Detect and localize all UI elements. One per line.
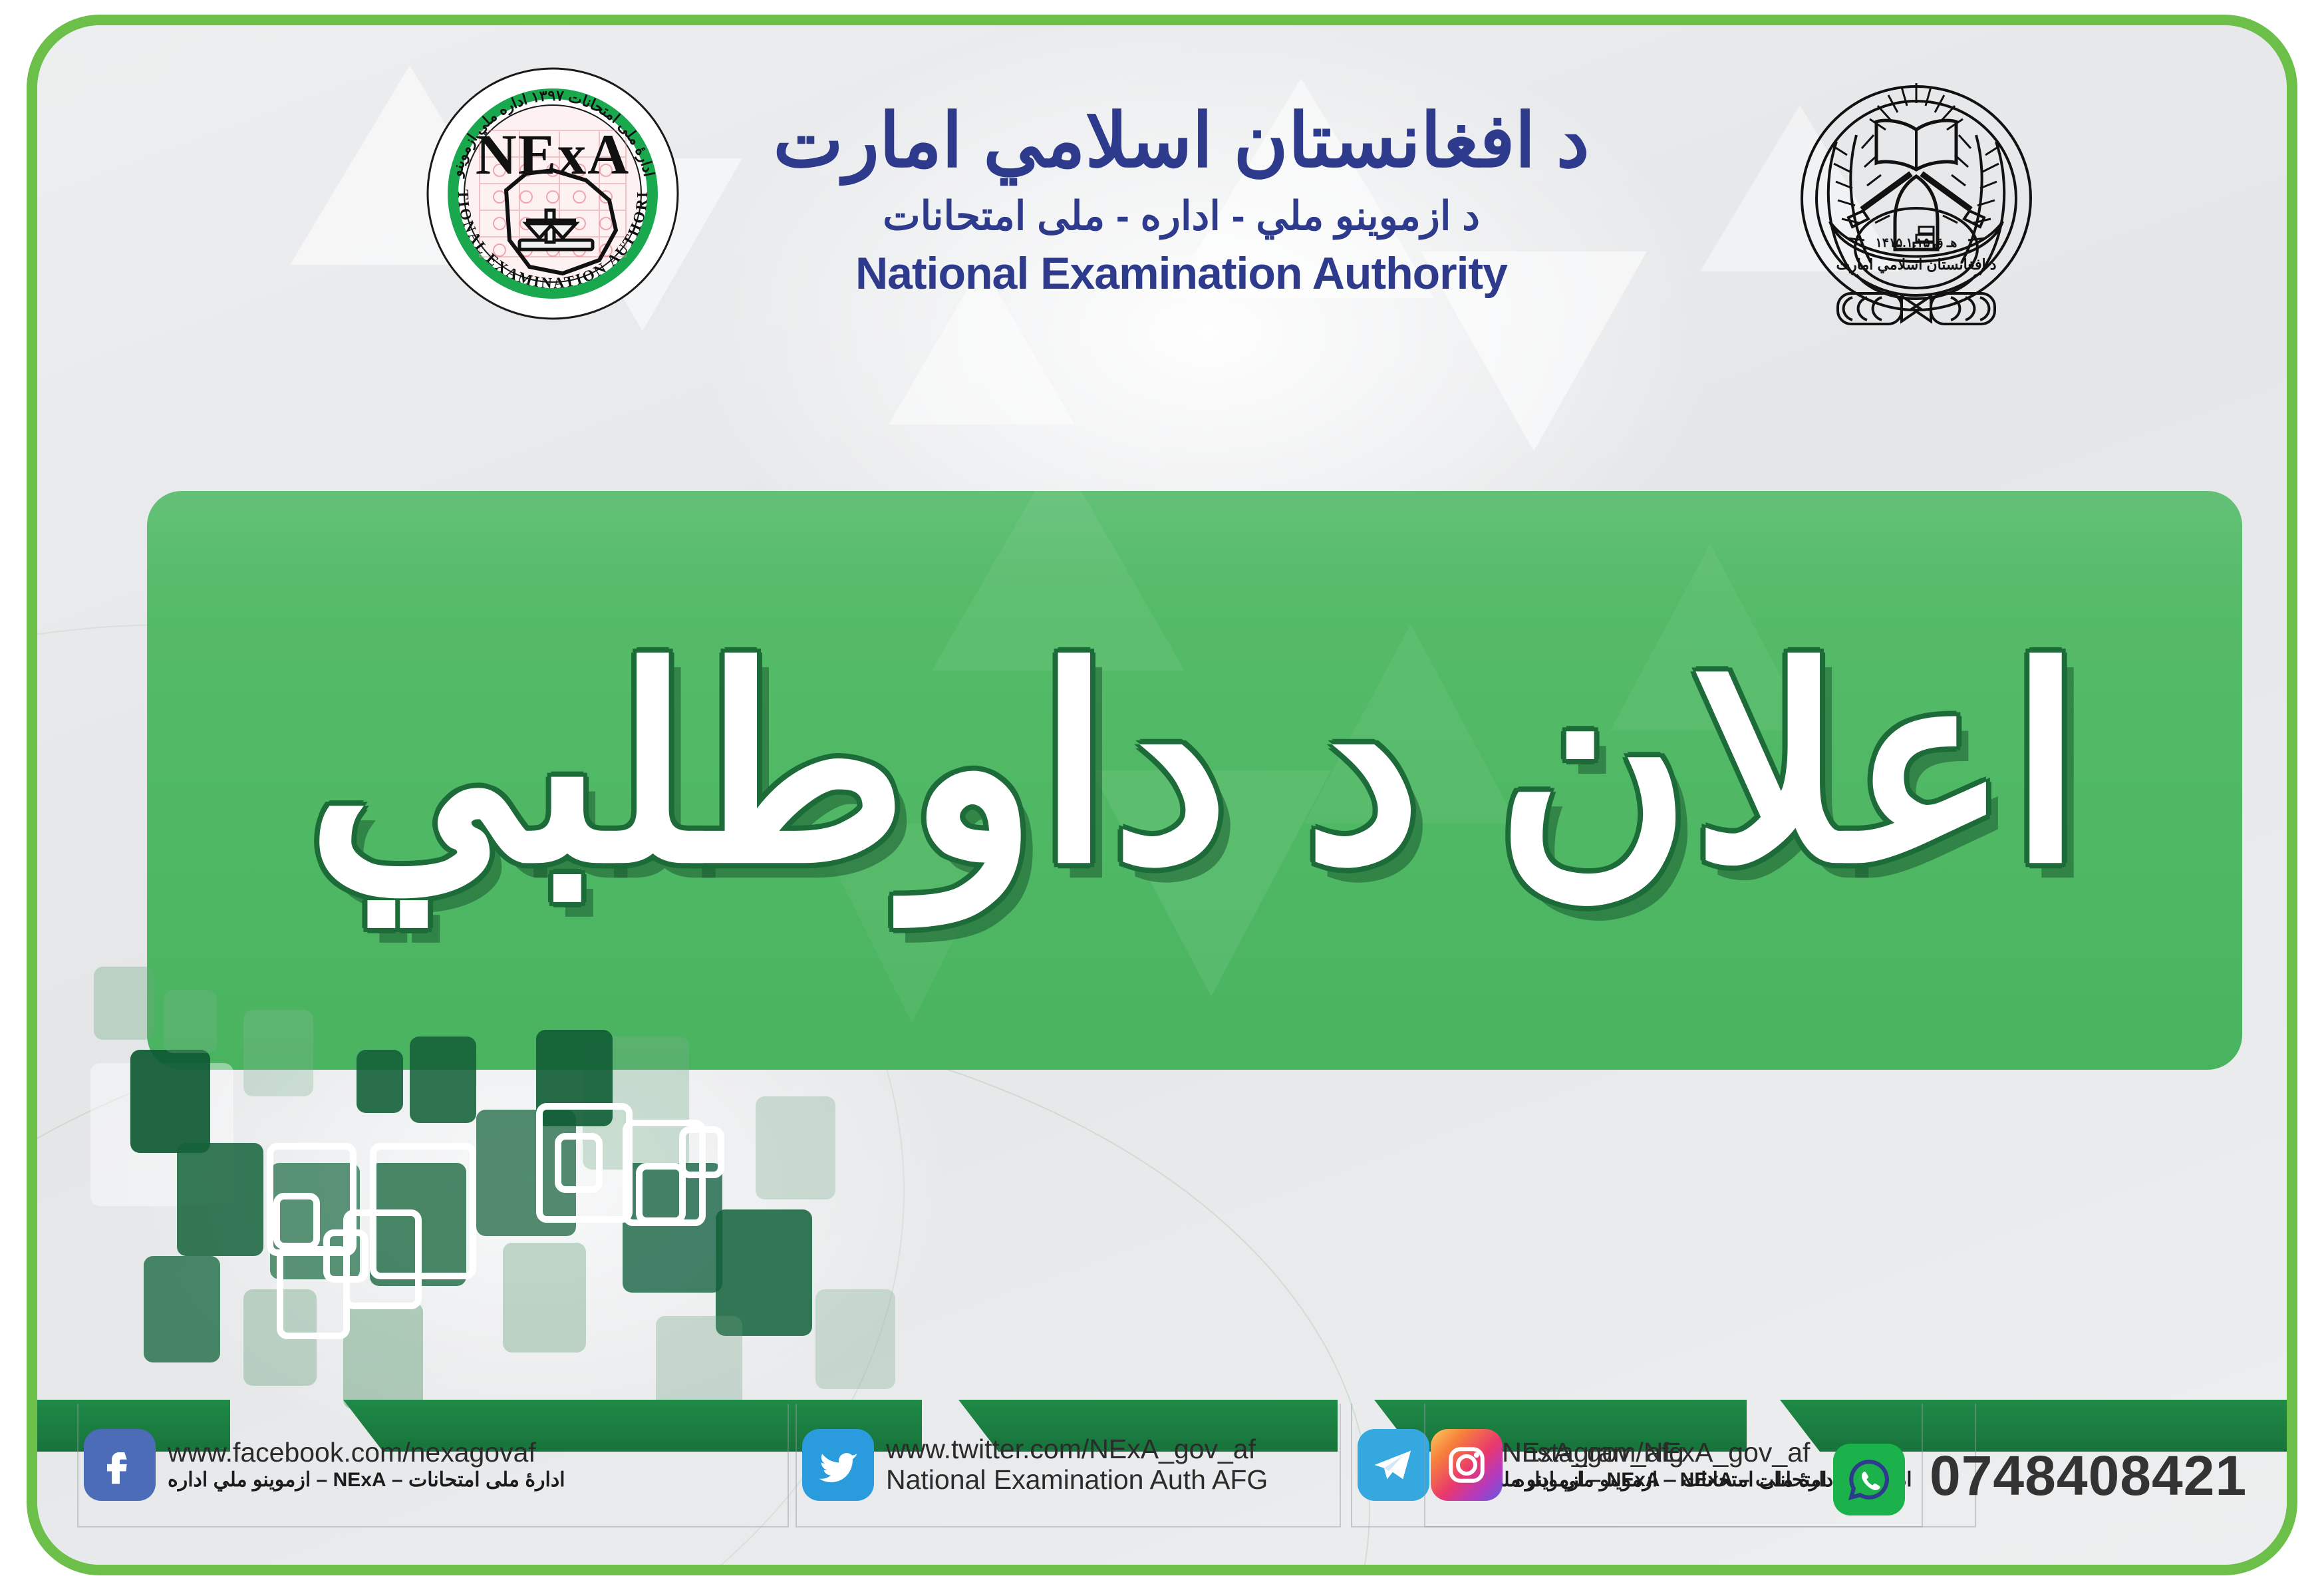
decor-square-outline <box>277 1246 350 1339</box>
decor-square-outline <box>536 1103 633 1223</box>
decor-square-outline <box>555 1133 603 1193</box>
nea-logo: NExA ادارۀ ملی امتحانات ۱۳۹۷ اداره ملي ا… <box>420 57 686 337</box>
decor-square <box>503 1243 586 1352</box>
decor-square <box>756 1096 835 1199</box>
decor-square-outline <box>636 1163 686 1224</box>
instagram-icon <box>1431 1429 1503 1501</box>
decor-square <box>623 1163 722 1293</box>
decor-square <box>716 1209 812 1336</box>
social-url: www.twitter.com/NExA_gov_af <box>886 1434 1268 1465</box>
poster-header: NExA ادارۀ ملی امتحانات ۱۳۹۷ اداره ملي ا… <box>37 25 2287 385</box>
decor-square-outline <box>267 1143 357 1256</box>
poster-footer: www.facebook.com/nexagovaf ادارۀ ملی امت… <box>37 1365 2287 1565</box>
announcement-banner: اعلان د داوطلبي <box>147 491 2242 1070</box>
whatsapp-icon[interactable] <box>1833 1444 1905 1515</box>
header-subtitle-pashto: د ازموینو ملي - اداره - ملی امتحانات <box>716 192 1647 240</box>
decor-square <box>476 1110 576 1236</box>
social-link-facebook[interactable]: www.facebook.com/nexagovaf ادارۀ ملی امت… <box>77 1404 789 1527</box>
decor-square-outline <box>273 1193 320 1249</box>
decor-square <box>270 1163 360 1279</box>
whatsapp-phone-number: 0748408421 <box>1930 1444 2247 1508</box>
poster-root: NExA ادارۀ ملی امتحانات ۱۳۹۷ اداره ملي ا… <box>0 0 2324 1590</box>
decor-square <box>144 1256 220 1362</box>
emblem-date: ۱۴۱۵.۱.۱۵ هـ ق <box>1876 236 1958 250</box>
header-subtitle-english: National Examination Authority <box>716 247 1647 301</box>
social-text-block: www.twitter.com/NExA_gov_af National Exa… <box>886 1434 1268 1496</box>
decor-square <box>177 1143 263 1256</box>
decor-square-outline <box>323 1229 368 1283</box>
decor-square <box>94 967 154 1040</box>
svg-text:NExA: NExA <box>476 122 631 186</box>
decor-square-outline <box>370 1143 476 1279</box>
telegram-icon <box>1358 1429 1429 1501</box>
twitter-icon <box>802 1429 874 1501</box>
decor-square-outline <box>343 1209 422 1309</box>
decor-square <box>90 1063 233 1206</box>
social-link-twitter[interactable]: www.twitter.com/NExA_gov_af National Exa… <box>796 1404 1341 1527</box>
facebook-icon <box>84 1429 156 1501</box>
emblem-inscription: د افغانستان اسلامي امارت <box>1836 256 1996 273</box>
header-title-block: د افغانستان اسلامي امارت د ازموینو ملي -… <box>716 102 1647 301</box>
poster-frame: NExA ادارۀ ملی امتحانات ۱۳۹۷ اداره ملي ا… <box>27 15 2297 1575</box>
social-url: www.facebook.com/nexagovaf <box>168 1438 565 1468</box>
header-title-pashto: د افغانستان اسلامي امارت <box>716 102 1647 180</box>
decor-square-outline <box>623 1120 706 1226</box>
islamic-emirate-emblem: ۱۴۱۵.۱.۱۵ هـ ق د افغانستان اسلامي امارت <box>1783 55 2049 341</box>
banner-title: اعلان د داوطلبي <box>147 491 2242 1070</box>
social-description: ادارۀ ملی امتحانات – NExA – ازموینو ملي … <box>168 1468 565 1492</box>
decor-square <box>370 1163 466 1286</box>
social-description: National Examination Auth AFG <box>886 1465 1268 1496</box>
decor-square-outline <box>679 1126 724 1178</box>
social-text-block: www.facebook.com/nexagovaf ادارۀ ملی امت… <box>168 1438 565 1492</box>
